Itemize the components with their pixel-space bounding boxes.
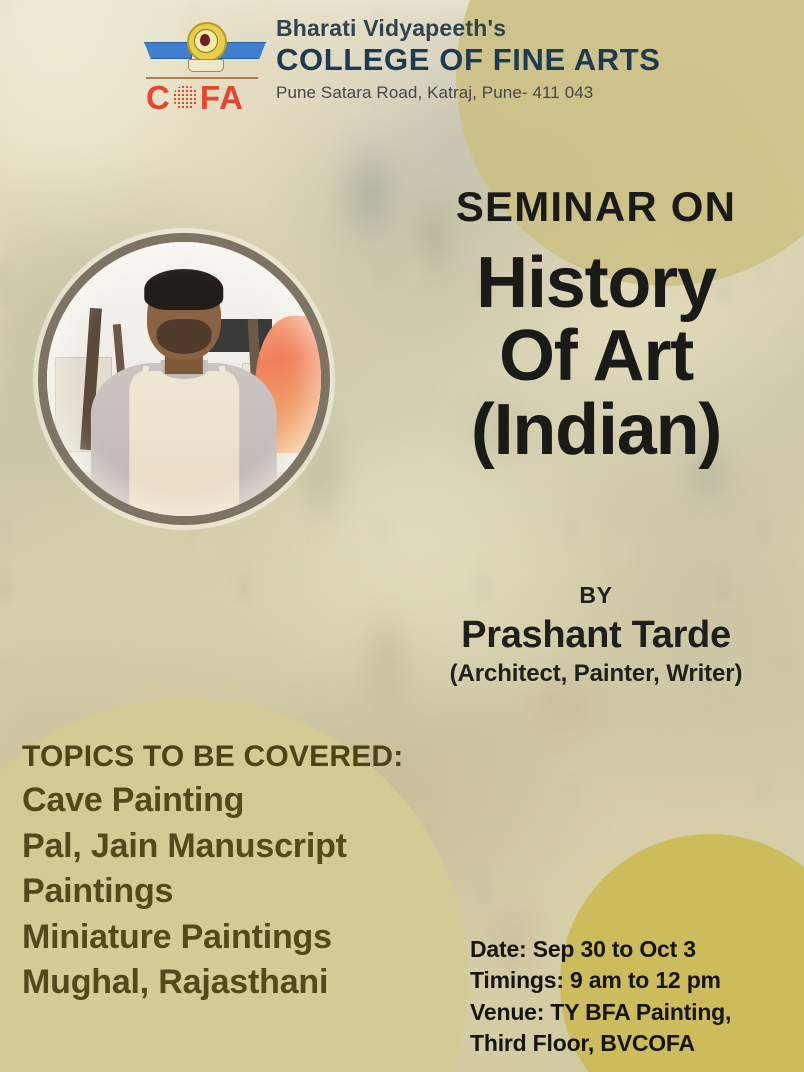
portrait-photo <box>47 242 321 516</box>
topic-item: Cave Painting <box>22 778 452 824</box>
cofa-dotted-o-icon <box>173 85 198 110</box>
college-name: COLLEGE OF FINE ARTS <box>276 42 706 78</box>
seminar-poster: C FA Bharati Vidyapeeth's COLLEGE OF FIN… <box>0 0 804 1072</box>
cofa-letter-c: C <box>146 81 171 114</box>
cofa-wordmark: C FA <box>146 81 264 114</box>
crest-flame-icon <box>200 34 210 46</box>
event-venue-line-2: Third Floor, BVCOFA <box>470 1028 790 1059</box>
crest-emblem-icon <box>146 16 264 74</box>
photo-person-beard <box>157 319 212 355</box>
speaker-credit-block: BY Prashant Tarde (Architect, Painter, W… <box>404 582 788 688</box>
speaker-name: Prashant Tarde <box>404 614 788 657</box>
photo-person-hair <box>144 269 223 310</box>
title-line-1: History <box>404 248 788 319</box>
cofa-letters-fa: FA <box>200 81 244 114</box>
event-details-block: Date: Sep 30 to Oct 3 Timings: 9 am to 1… <box>470 934 790 1059</box>
title-line-2: Of Art <box>404 321 788 392</box>
topics-block: TOPICS TO BE COVERED: Cave Painting Pal,… <box>22 740 452 1006</box>
by-label: BY <box>404 582 788 609</box>
event-date: Date: Sep 30 to Oct 3 <box>470 934 790 965</box>
seminar-kicker: SEMINAR ON <box>404 186 788 228</box>
speaker-portrait <box>38 233 330 525</box>
event-venue-line-1: Venue: TY BFA Painting, <box>470 997 790 1028</box>
topic-item: Mughal, Rajasthani <box>22 960 452 1006</box>
title-line-3: (Indian) <box>404 395 788 466</box>
college-address: Pune Satara Road, Katraj, Pune- 411 043 <box>276 83 706 103</box>
crest-medallion-icon <box>182 20 228 70</box>
topic-item: Miniature Paintings <box>22 915 452 961</box>
photo-person-apron <box>129 371 239 516</box>
speaker-role: (Architect, Painter, Writer) <box>404 660 788 688</box>
crest-open-book-icon <box>188 59 224 72</box>
event-timings: Timings: 9 am to 12 pm <box>470 965 790 996</box>
topic-item: Pal, Jain Manuscript <box>22 824 452 870</box>
organisation-name: Bharati Vidyapeeth's <box>276 16 706 41</box>
poster-header: C FA Bharati Vidyapeeth's COLLEGE OF FIN… <box>146 14 706 120</box>
topics-list: Cave Painting Pal, Jain Manuscript Paint… <box>22 778 452 1006</box>
college-logo: C FA <box>146 14 264 114</box>
topic-item: Paintings <box>22 869 452 915</box>
seminar-title-block: SEMINAR ON History Of Art (Indian) <box>404 186 788 466</box>
header-text-block: Bharati Vidyapeeth's COLLEGE OF FINE ART… <box>276 14 706 103</box>
topics-heading: TOPICS TO BE COVERED: <box>22 740 452 774</box>
